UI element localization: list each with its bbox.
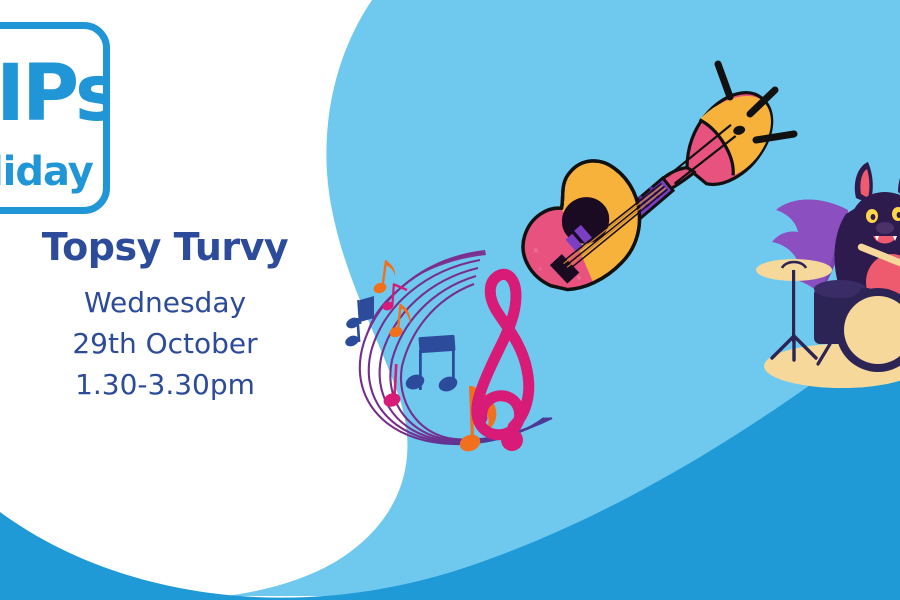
bat-snout — [876, 222, 894, 234]
event-title: Topsy Turvy — [0, 224, 330, 270]
poster-canvas: HIPs Holiday Club Topsy Turvy Wednesday … — [0, 0, 900, 600]
logo-inner: HIPs Holiday Club — [0, 29, 110, 214]
navy-beamed-notes — [403, 335, 459, 394]
event-time: 1.30-3.30pm — [0, 364, 330, 405]
logo-sub-text: Holiday Club — [0, 152, 110, 192]
logo-badge: HIPs Holiday Club — [0, 22, 110, 214]
orange-small-note — [372, 260, 395, 295]
navy-key-marks — [344, 296, 374, 348]
music-notes-illustration — [330, 238, 620, 478]
logo-main-text: HIPs — [0, 55, 110, 133]
event-text-block: Topsy Turvy Wednesday 29th October 1.30-… — [0, 224, 330, 405]
bat-drummer-illustration — [752, 148, 900, 398]
event-day: Wednesday — [0, 282, 330, 323]
event-date: 29th October — [0, 323, 330, 364]
treble-clef — [477, 274, 529, 451]
